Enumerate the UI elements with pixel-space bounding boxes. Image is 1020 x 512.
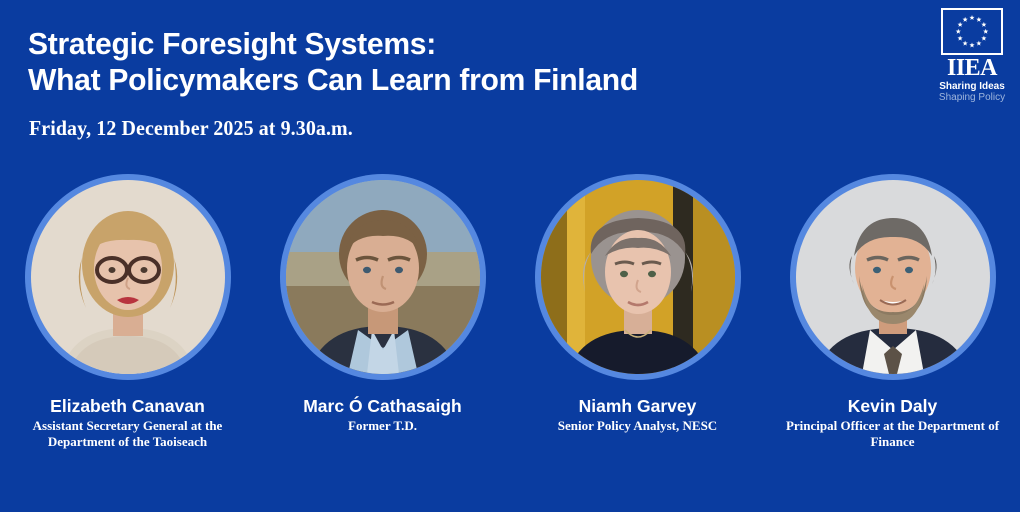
speaker-name: Elizabeth Canavan xyxy=(50,396,205,417)
speaker-photo xyxy=(541,180,735,374)
portrait-illustration-4 xyxy=(796,180,990,374)
iiea-logo: IIEA Sharing Ideas Shaping Policy xyxy=(932,8,1012,106)
portrait-illustration-1 xyxy=(31,180,225,374)
iiea-wordmark: IIEA xyxy=(941,56,1003,81)
eu-stars-svg xyxy=(943,10,1001,53)
title-line-2: What Policymakers Can Learn from Finland xyxy=(28,62,882,98)
logo-tagline-1: Sharing Ideas xyxy=(932,81,1012,92)
portrait-ring xyxy=(535,174,741,380)
speaker-list: Elizabeth Canavan Assistant Secretary Ge… xyxy=(0,174,1020,450)
speaker-photo xyxy=(31,180,225,374)
page-title: Strategic Foresight Systems: What Policy… xyxy=(28,26,908,98)
portrait-illustration-3 xyxy=(541,180,735,374)
speaker-photo xyxy=(796,180,990,374)
speaker-role: Senior Policy Analyst, NESC xyxy=(558,418,717,434)
speaker-name: Marc Ó Cathasaigh xyxy=(303,396,462,417)
portrait-ring xyxy=(790,174,996,380)
portrait-ring xyxy=(25,174,231,380)
portrait-illustration-2 xyxy=(286,180,480,374)
speaker-name: Niamh Garvey xyxy=(579,396,697,417)
event-date: Friday, 12 December 2025 at 9.30a.m. xyxy=(29,116,353,140)
speaker-role: Principal Officer at the Department of F… xyxy=(778,418,1008,450)
eu-stars-icon xyxy=(941,8,1003,55)
speaker-role: Assistant Secretary General at the Depar… xyxy=(13,418,243,450)
portrait-ring xyxy=(280,174,486,380)
speaker-card: Niamh Garvey Senior Policy Analyst, NESC xyxy=(518,174,758,434)
event-poster: Strategic Foresight Systems: What Policy… xyxy=(0,0,1020,512)
speaker-card: Marc Ó Cathasaigh Former T.D. xyxy=(263,174,503,434)
speaker-card: Elizabeth Canavan Assistant Secretary Ge… xyxy=(8,174,248,450)
speaker-card: Kevin Daly Principal Officer at the Depa… xyxy=(773,174,1013,450)
speaker-role: Former T.D. xyxy=(348,418,417,434)
speaker-photo xyxy=(286,180,480,374)
logo-tagline-2: Shaping Policy xyxy=(932,92,1012,103)
title-line-1: Strategic Foresight Systems: xyxy=(28,26,882,62)
speaker-name: Kevin Daly xyxy=(848,396,937,417)
